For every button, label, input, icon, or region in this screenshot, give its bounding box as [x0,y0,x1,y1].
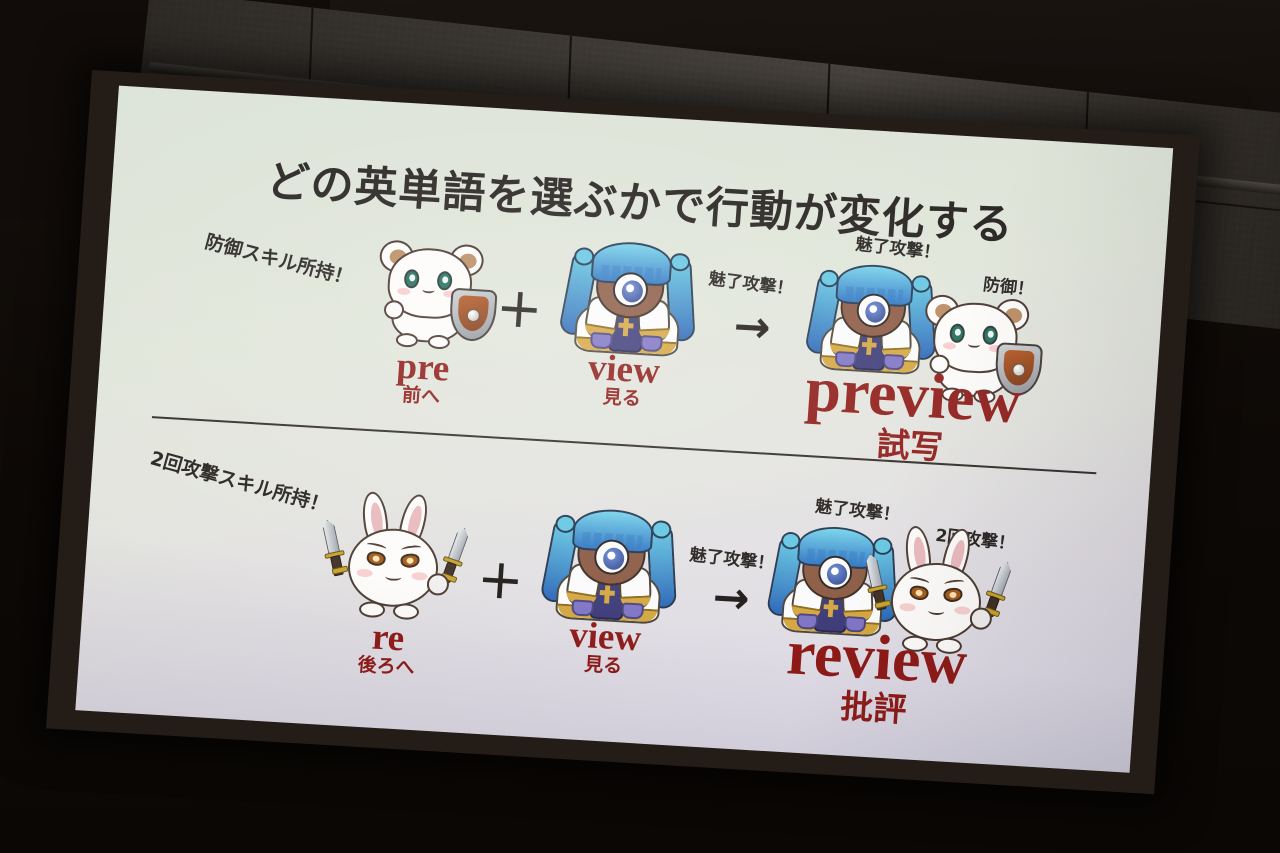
rabbit-tail [426,573,449,596]
rabbit-foot [359,601,386,619]
callout-defense-skill: 防御スキル所持！ [202,227,356,291]
presentation-slide: どの英単語を選ぶかで行動が変化する 防御スキル所持！ [75,86,1173,773]
callout-double-attack-skill: 2回攻撃スキル所持！ [147,444,332,519]
word-pre: pre 前へ [355,346,489,411]
arrow-operator: → [711,576,751,622]
character-white-rabbit [331,491,457,616]
lecture-room-background: どの英単語を選ぶかで行動が変化する 防御スキル所持！ [0,0,1280,853]
callout-charm-attack: 魅了攻撃！ [707,264,795,300]
projection-screen-area: どの英単語を選ぶかで行動が変化する 防御スキル所持！ [0,0,1280,853]
character-cyclops-mage [543,500,679,625]
word-view: view 見る [544,348,703,414]
word-view: view 見る [525,615,684,681]
rabbit-body [345,526,440,609]
word-re: re 後ろへ [318,617,456,682]
plus-operator: ＋ [476,558,525,607]
projection-screen-frame: どの英単語を選ぶかで行動が変化する 防御スキル所持！ [46,70,1200,794]
word-preview-en: preview [771,357,1055,434]
character-white-bear [372,237,487,347]
word-review: review 批評 [732,619,1018,734]
dagger-icon-left [321,519,345,578]
rabbit-tail [969,607,992,630]
callout-charm-attack: 魅了攻撃！ [688,540,775,574]
character-cyclops-mage [562,233,698,358]
plus-operator: ＋ [495,286,544,335]
arrow-operator: → [732,305,772,351]
